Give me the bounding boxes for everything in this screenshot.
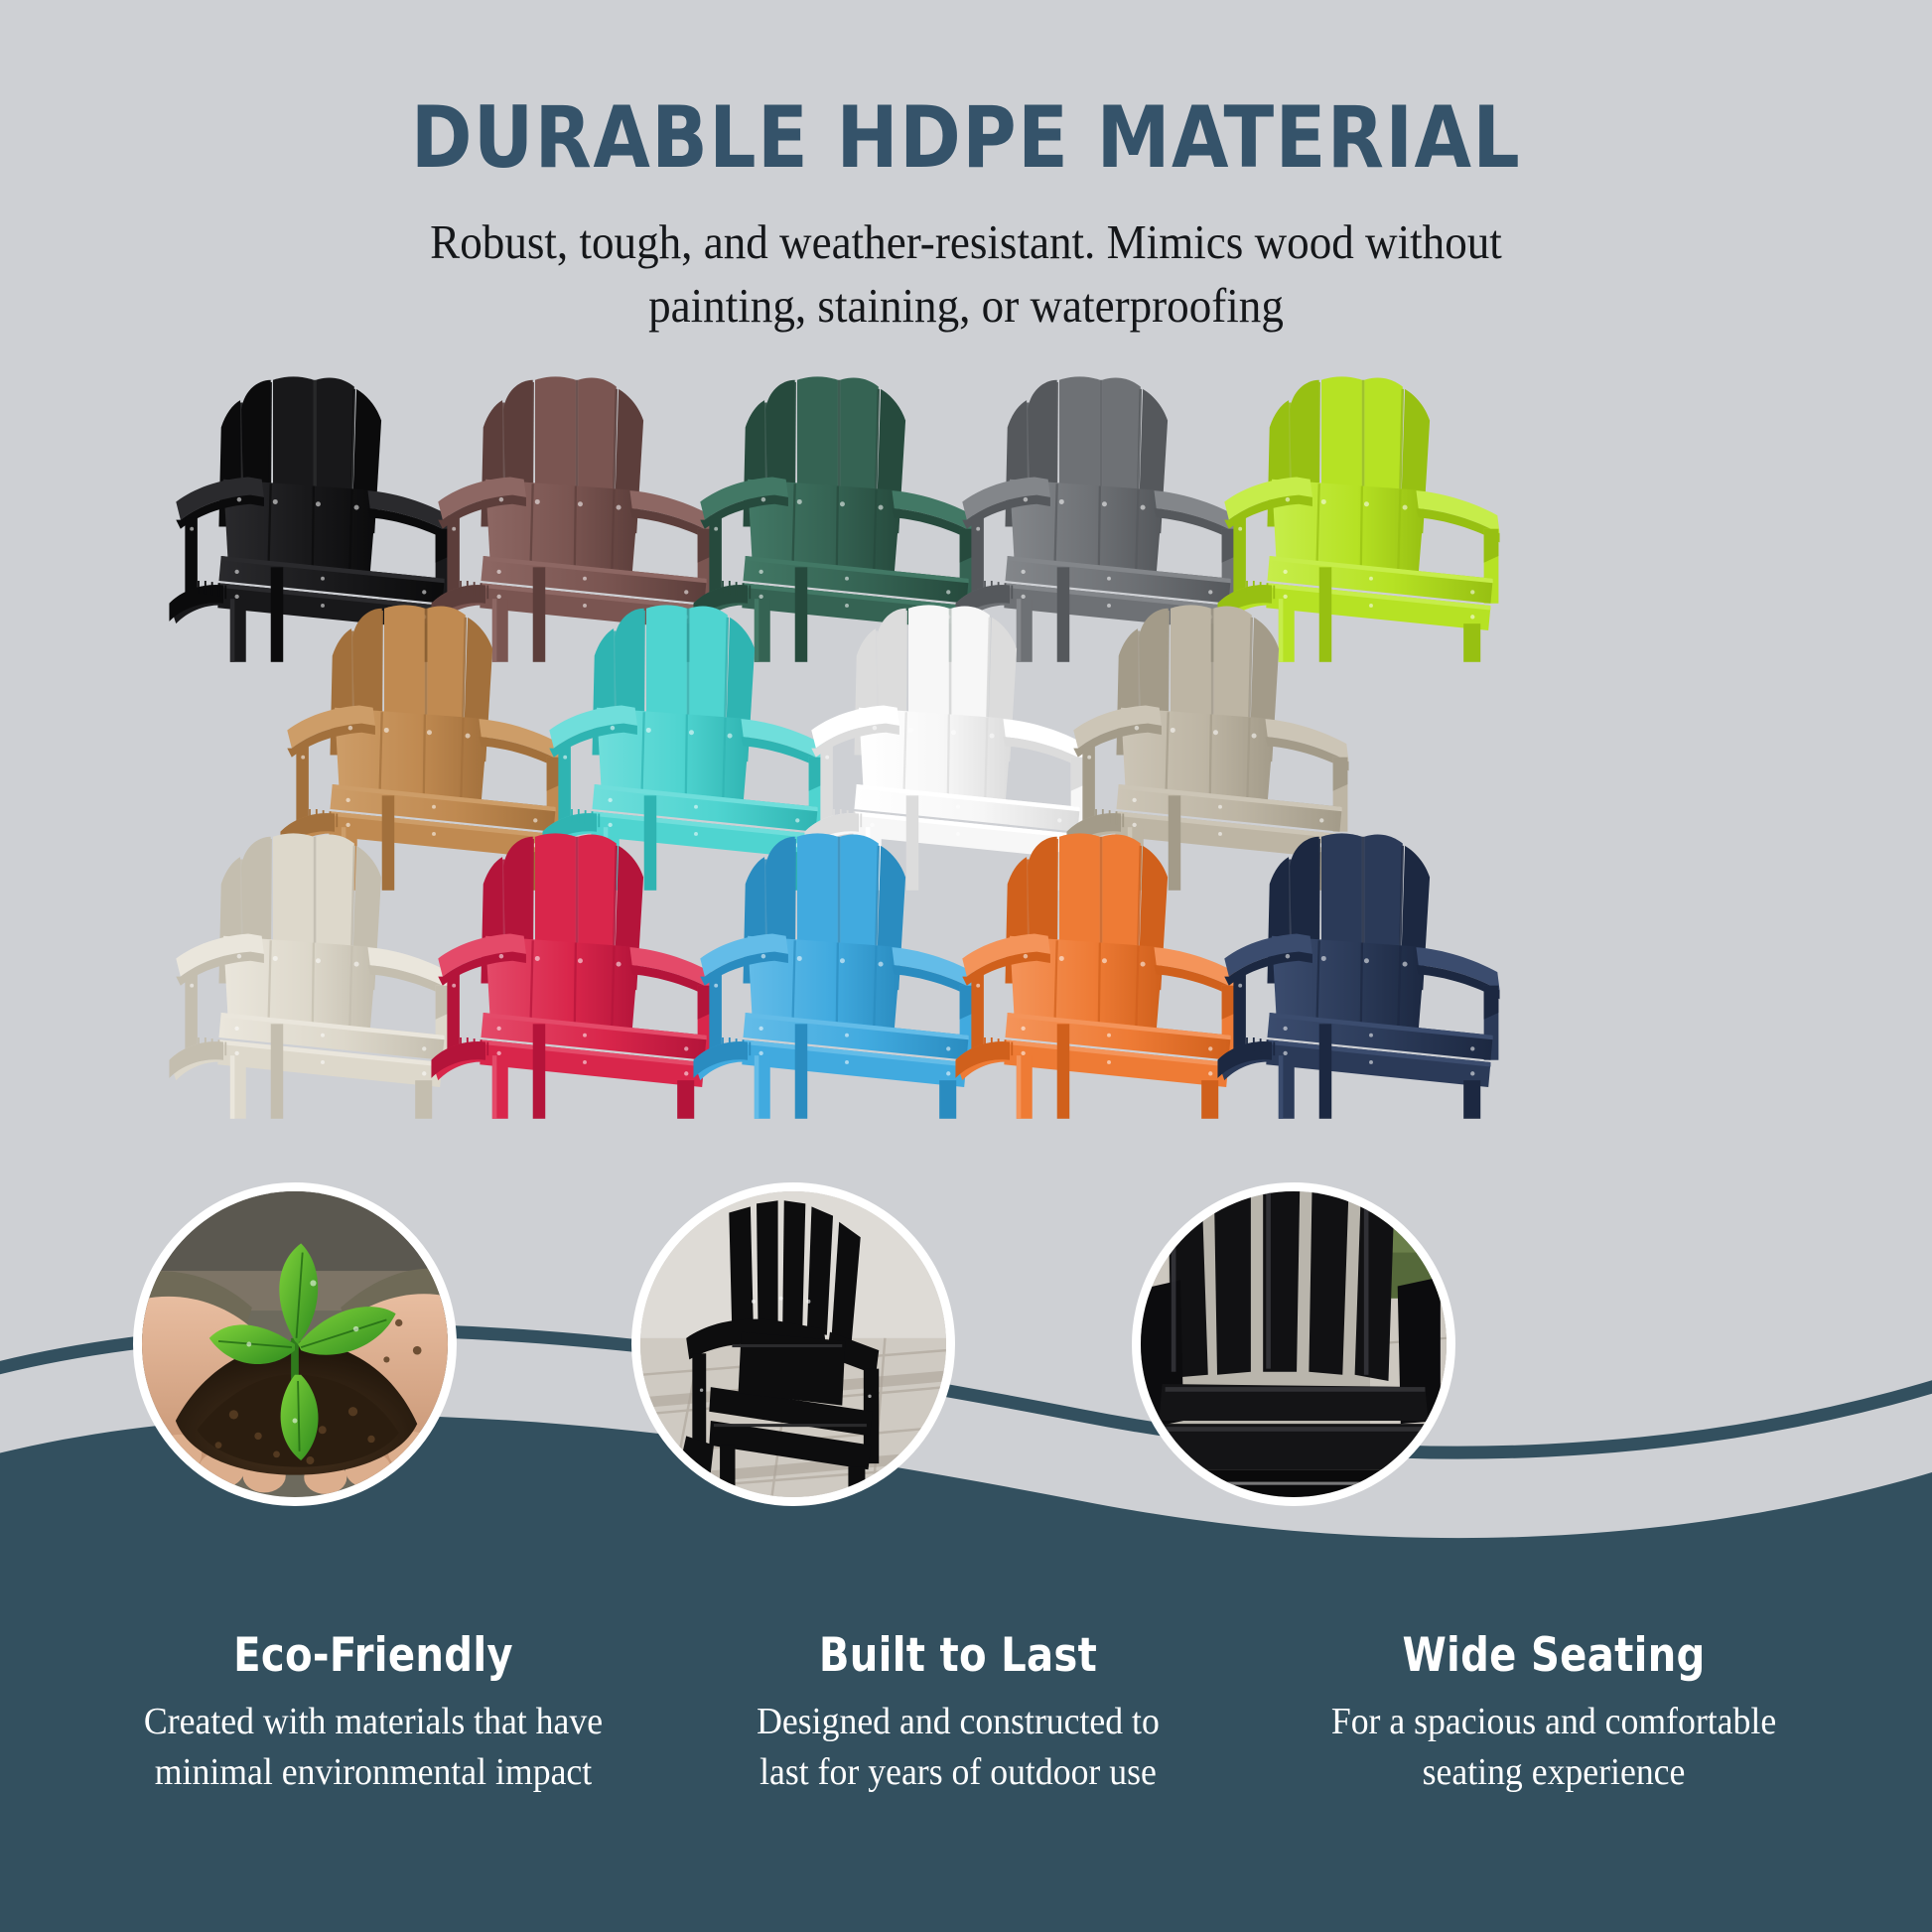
feature-body-built-to-last-line-2: last for years of outdoor use — [659, 1747, 1257, 1798]
feature-text-built-to-last: Built to Last Designed and constructed t… — [640, 1628, 1276, 1798]
feature-body-wide-seating-line-2: seating experience — [1251, 1747, 1858, 1798]
wide-seat-closeup-photo — [1141, 1191, 1447, 1497]
seedling-in-hands-illustration — [142, 1191, 448, 1497]
page-subtitle: Robust, tough, and weather-resistant. Mi… — [358, 210, 1574, 337]
chair-illustration-navy-blue — [1195, 814, 1547, 1119]
feature-body-wide-seating-line-1: For a spacious and comfortable — [1251, 1697, 1858, 1747]
feature-body-eco-friendly-line-1: Created with materials that have — [74, 1697, 672, 1747]
feature-body-eco-friendly-line-2: minimal environmental impact — [74, 1747, 672, 1798]
feature-text-wide-seating: Wide Seating For a spacious and comforta… — [1231, 1628, 1876, 1798]
feature-body-built-to-last-line-1: Designed and constructed to — [659, 1697, 1257, 1747]
feature-photo-eco-friendly — [133, 1182, 457, 1506]
feature-heading-wide-seating: Wide Seating — [1247, 1628, 1861, 1683]
feature-heading-built-to-last: Built to Last — [656, 1628, 1260, 1683]
header: DURABLE HDPE MATERIAL Robust, tough, and… — [0, 0, 1932, 337]
feature-heading-eco-friendly: Eco-Friendly — [71, 1628, 675, 1683]
subtitle-line-1: Robust, tough, and weather-resistant. Mi… — [358, 210, 1574, 274]
page-title: DURABLE HDPE MATERIAL — [39, 0, 1893, 181]
subtitle-line-2: painting, staining, or waterproofing — [358, 274, 1574, 338]
feature-photo-built-to-last — [631, 1182, 955, 1506]
feature-photo-wide-seating — [1132, 1182, 1455, 1506]
chair-swatch-navy-blue[interactable] — [1195, 814, 1547, 1119]
infographic-root: DURABLE HDPE MATERIAL Robust, tough, and… — [0, 0, 1932, 1932]
feature-text-eco-friendly: Eco-Friendly Created with materials that… — [56, 1628, 691, 1798]
black-chair-patio-photo — [640, 1191, 946, 1497]
